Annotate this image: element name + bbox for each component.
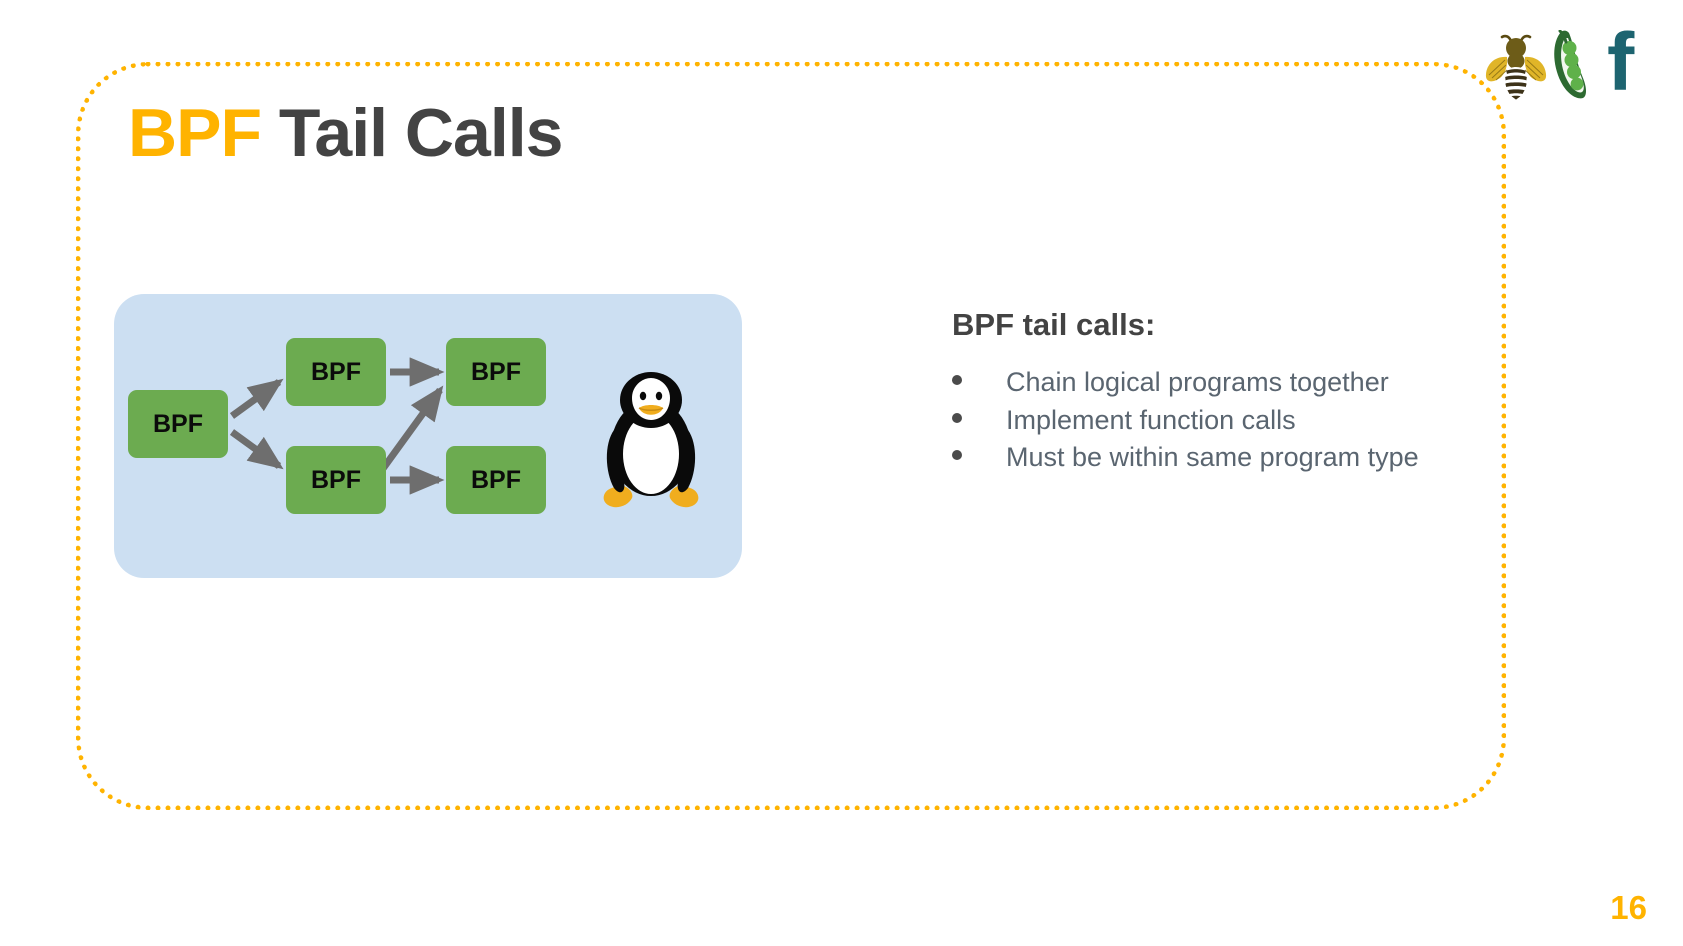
title-accent: BPF [128,95,261,171]
bpf-node: BPF [286,338,386,406]
bee-icon [1485,34,1547,100]
edge-n2-n3 [382,390,440,470]
bpf-node: BPF [446,338,546,406]
list-item: Implement function calls [952,403,1512,439]
bpf-node-label: BPF [311,466,361,494]
bpf-node-label: BPF [153,410,203,438]
page-title: BPF Tail Calls [128,96,562,171]
title-rest: Tail Calls [279,95,563,171]
pea-pod-icon [1549,30,1599,100]
list-item: Must be within same program type [952,440,1512,476]
bullet-dot-icon [952,375,962,385]
bpf-node: BPF [128,390,228,458]
diagram-canvas: BPF BPF BPF BPF BPF [114,294,742,578]
bpf-node-label: BPF [471,466,521,494]
letter-f-icon: f [1601,24,1659,100]
brand-logo: f [1469,18,1659,100]
diagram-nodes: BPF BPF BPF BPF BPF [128,338,546,514]
bpf-node-label: BPF [311,358,361,386]
list-item: Chain logical programs together [952,365,1512,401]
edge-n0-n2 [232,432,279,466]
list-item-label: Implement function calls [1006,403,1512,439]
page-number: 16 [1610,891,1647,924]
bpf-tail-call-diagram: BPF BPF BPF BPF BPF [114,294,742,578]
bullet-dot-icon [952,450,962,460]
bullet-list: Chain logical programs together Implemen… [952,365,1512,476]
bpf-node: BPF [446,446,546,514]
content-column: BPF tail calls: Chain logical programs t… [952,306,1512,478]
edge-n0-n1 [232,382,279,416]
section-subheading: BPF tail calls: [952,306,1512,343]
bullet-dot-icon [952,413,962,423]
bpf-node-label: BPF [471,358,521,386]
list-item-label: Must be within same program type [1006,440,1512,476]
tux-penguin-icon [604,372,699,507]
list-item-label: Chain logical programs together [1006,365,1512,401]
bpf-node: BPF [286,446,386,514]
logo-letter: f [1607,24,1635,100]
